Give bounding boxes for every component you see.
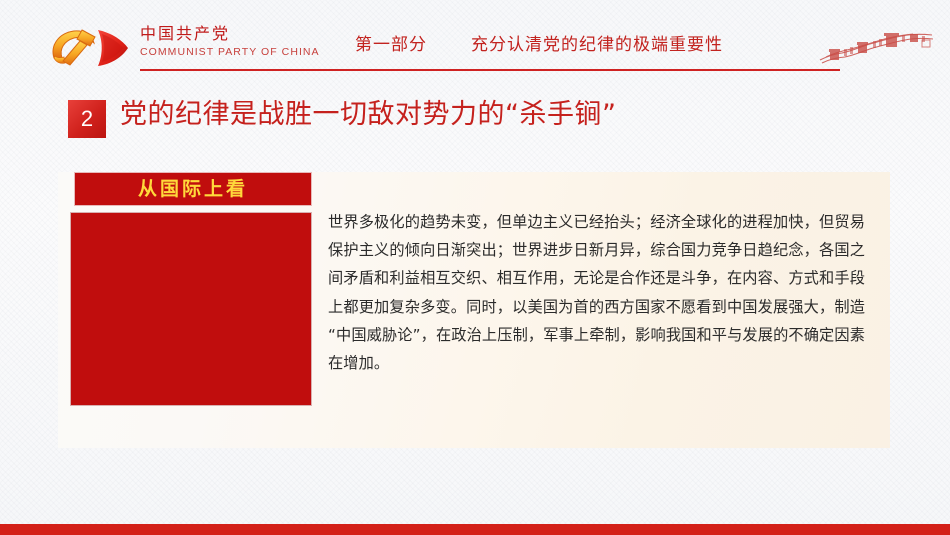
brand-block: 中国共产党 COMMUNIST PARTY OF CHINA [140, 24, 340, 59]
brand-name-en: COMMUNIST PARTY OF CHINA [140, 45, 340, 59]
header-section-title: 第一部分充分认清党的纪律的极端重要性 [355, 30, 723, 55]
footer-accent-bar [0, 524, 950, 535]
title-number-badge: 2 [68, 100, 106, 138]
red-image-placeholder [70, 212, 312, 406]
section-label-text: 从国际上看 [75, 173, 311, 205]
header-part-label: 第一部分 [355, 35, 427, 55]
section-label-banner: 从国际上看 [74, 172, 312, 206]
hammer-and-sickle-emblem-icon [42, 24, 138, 70]
brand-name-cn: 中国共产党 [140, 24, 340, 44]
slide-root: 中国共产党 COMMUNIST PARTY OF CHINA 第一部分充分认清党… [0, 0, 950, 535]
slide-header: 中国共产党 COMMUNIST PARTY OF CHINA 第一部分充分认清党… [0, 0, 950, 84]
header-title-text: 充分认清党的纪律的极端重要性 [471, 35, 723, 55]
title-text: 党的纪律是战胜一切敌对势力的“杀手锏” [68, 96, 768, 134]
header-divider-line [140, 69, 840, 71]
body-paragraph: 世界多极化的趋势未变，但单边主义已经抬头；经济全球化的进程加快，但贸易保护主义的… [328, 208, 865, 377]
great-wall-illustration-icon [818, 22, 936, 70]
page-title: 2 党的纪律是战胜一切敌对势力的“杀手锏” [68, 96, 768, 138]
